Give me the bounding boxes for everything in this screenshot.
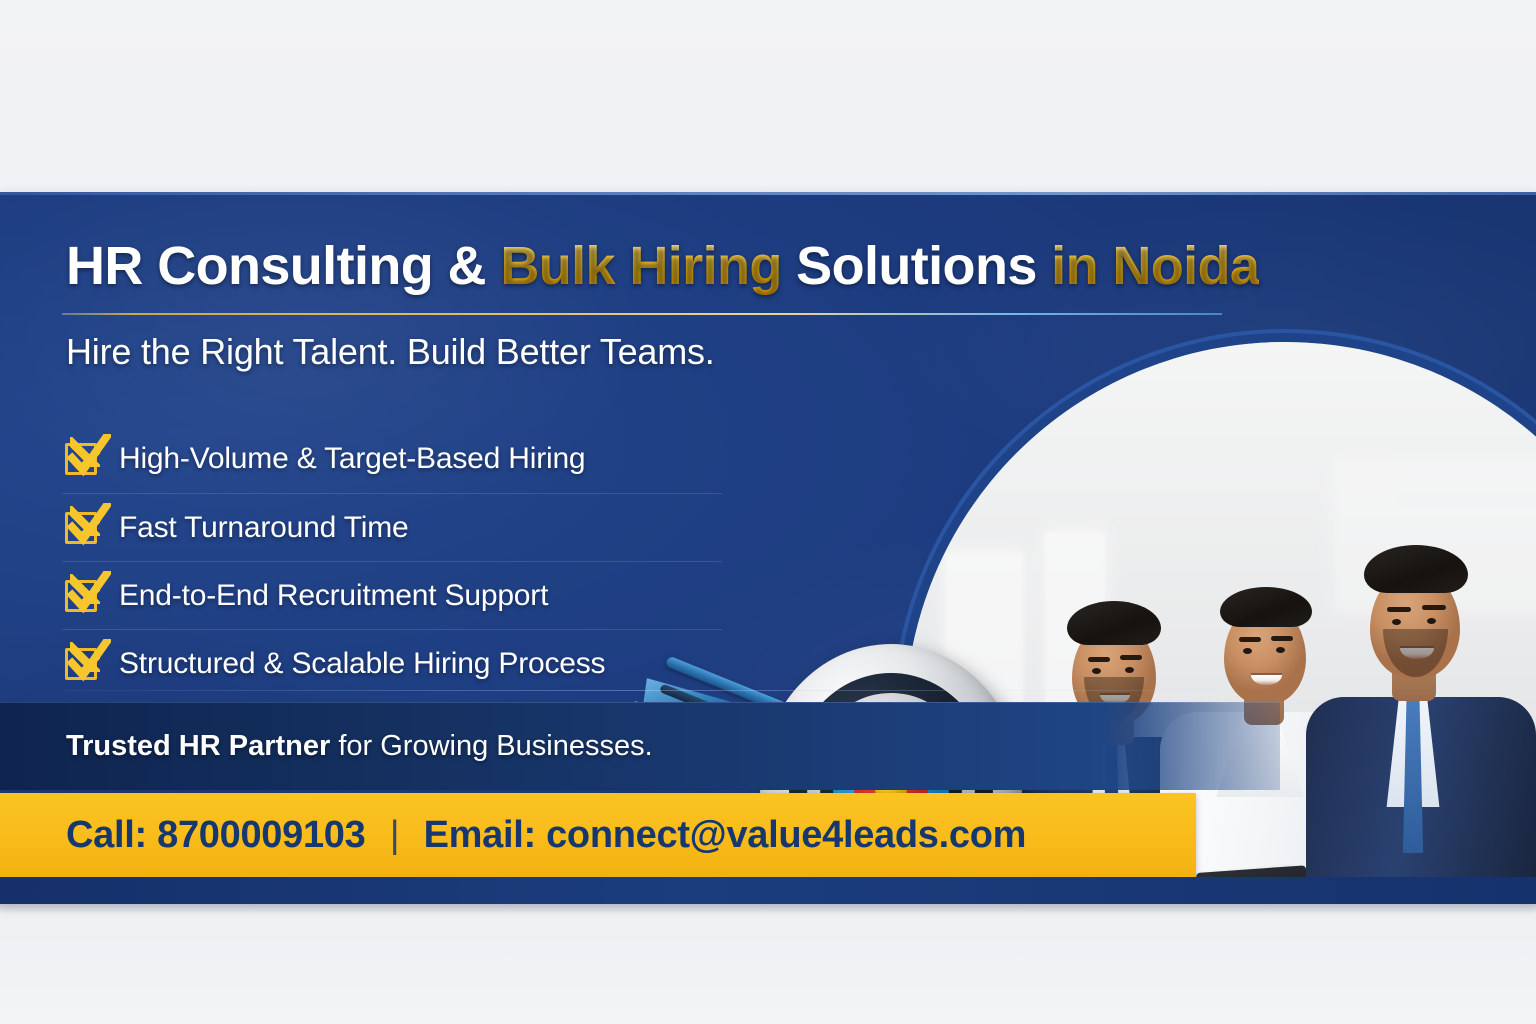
check-icon [67, 571, 111, 615]
headline-highlight-1: Bulk Hiring [500, 236, 781, 296]
trust-statement: Trusted HR Partner for Growing Businesse… [66, 730, 653, 763]
page-title: HR Consulting & Bulk Hiring Solutions in… [66, 235, 1259, 297]
list-item-label: High-Volume & Target-Based Hiring [119, 442, 585, 476]
call-label: Call: [66, 814, 147, 856]
trust-statement-rest: for Growing Businesses. [330, 730, 652, 762]
headline-divider [62, 313, 1222, 315]
list-item-label: Structured & Scalable Hiring Process [119, 647, 605, 681]
headline-highlight-2: in Noida [1051, 236, 1259, 296]
list-item-label: Fast Turnaround Time [119, 511, 408, 545]
headline-part-2: Solutions [782, 236, 1051, 296]
email-address[interactable]: connect@value4leads.com [546, 814, 1026, 856]
list-item: Fast Turnaround Time [62, 493, 722, 561]
list-item: High-Volume & Target-Based Hiring [62, 425, 722, 493]
trust-statement-bold: Trusted HR Partner [66, 730, 330, 762]
banner-drop-shadow [0, 904, 1536, 914]
headline-part-1: HR Consulting & [66, 236, 500, 296]
checkbox-checked-icon [65, 443, 97, 475]
list-item: Structured & Scalable Hiring Process [62, 629, 722, 697]
page-subtitle: Hire the Right Talent. Build Better Team… [66, 331, 715, 373]
trust-band: Trusted HR Partner for Growing Businesse… [0, 702, 1280, 790]
feature-list: High-Volume & Target-Based Hiring Fast T… [62, 425, 722, 697]
check-icon [67, 639, 111, 683]
list-item: End-to-End Recruitment Support [62, 561, 722, 629]
contact-details: Call: 8700009103 | Email: connect@value4… [66, 814, 1026, 857]
list-item-label: End-to-End Recruitment Support [119, 579, 548, 613]
checkbox-checked-icon [65, 580, 97, 612]
phone-number[interactable]: 8700009103 [157, 814, 365, 856]
check-icon [67, 434, 111, 478]
email-label: Email: [424, 814, 536, 856]
trust-divider [62, 690, 1222, 691]
checkbox-checked-icon [65, 512, 97, 544]
checkbox-checked-icon [65, 648, 97, 680]
contact-bar[interactable]: Call: 8700009103 | Email: connect@value4… [0, 793, 1196, 877]
hr-consulting-banner: HR Consulting & Bulk Hiring Solutions in… [0, 192, 1536, 904]
check-icon [67, 503, 111, 547]
banner-bottom-strip [0, 877, 1536, 904]
contact-separator: | [376, 814, 414, 856]
